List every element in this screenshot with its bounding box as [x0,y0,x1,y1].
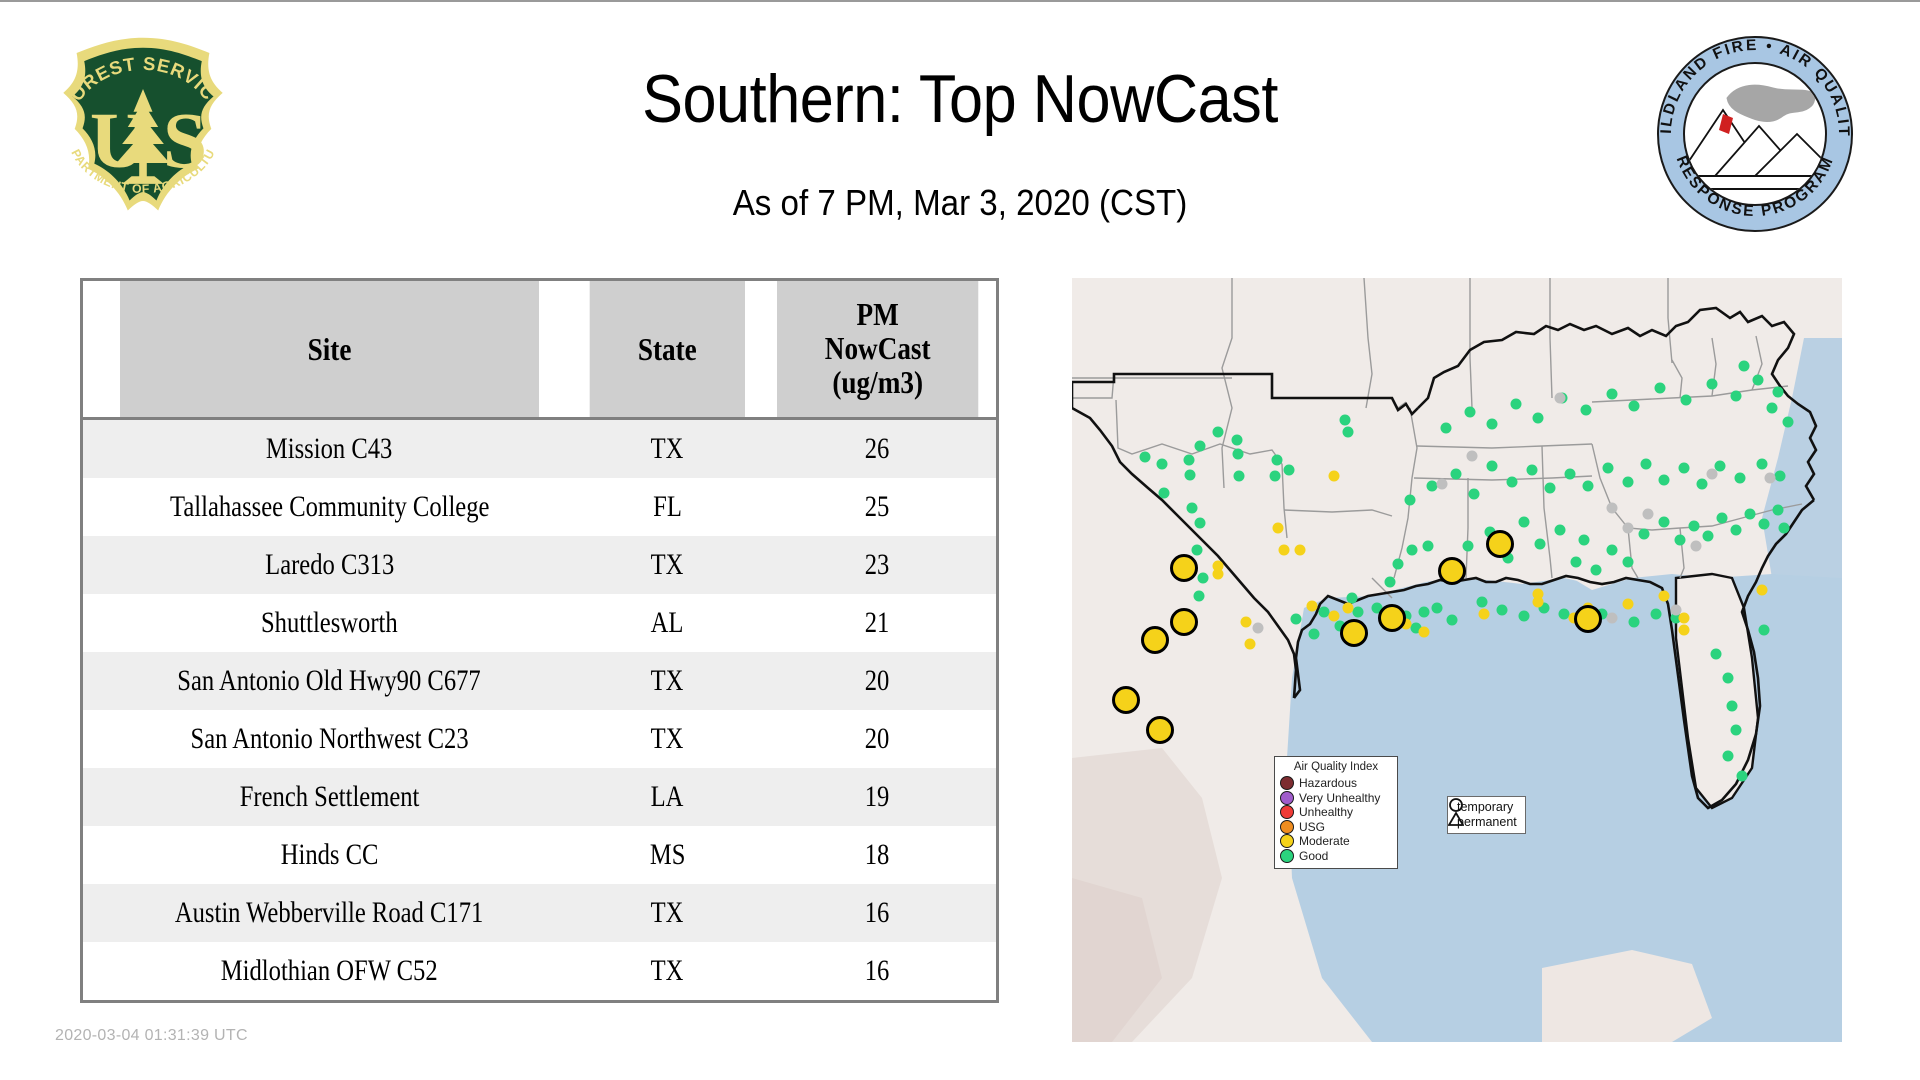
legend-permanent-label: permanent [1457,815,1517,830]
top-site-marker [1143,628,1168,653]
top-site-marker [1172,610,1197,635]
table-body: Mission C43TX26Tallahassee Community Col… [83,419,996,1001]
aqi-swatch-icon [1280,849,1294,863]
aqi-legend-label: Moderate [1299,835,1350,847]
aqi-swatch-icon [1280,791,1294,805]
cell-pm: 25 [759,478,996,536]
cell-site: Shuttlesworth [83,594,576,652]
cell-state: FL [576,478,759,536]
cell-pm: 20 [759,710,996,768]
air-quality-monitor-map[interactable]: Air Quality Index HazardousVery Unhealth… [1072,278,1842,1042]
cell-pm: 16 [759,884,996,942]
cell-pm: 18 [759,826,996,884]
table-row[interactable]: French SettlementLA19 [83,768,996,826]
aqi-legend-item: Moderate [1280,834,1392,849]
table-row[interactable]: Laredo C313TX23 [83,536,996,594]
column-header-pm-line2: NowCast [776,332,978,366]
table-row[interactable]: Austin Webberville Road C171TX16 [83,884,996,942]
aqi-legend: Air Quality Index HazardousVery Unhealth… [1274,756,1398,869]
cell-state: TX [576,884,759,942]
map-graphic [1072,278,1842,1042]
cell-pm: 26 [759,419,996,479]
table-row[interactable]: Hinds CCMS18 [83,826,996,884]
cell-state: TX [576,419,759,479]
cell-state: TX [576,942,759,1000]
top-site-marker [1148,718,1173,743]
aqi-legend-label: Hazardous [1299,777,1357,789]
column-header-pm-line1: PM [776,298,978,332]
aqi-legend-label: USG [1299,821,1325,833]
aqi-legend-title: Air Quality Index [1280,761,1392,773]
page-header: FOREST SERVICE U S DEPARTMENT OF AGRICUL… [0,2,1920,272]
cell-site: Laredo C313 [83,536,576,594]
cell-pm: 23 [759,536,996,594]
aqi-legend-item: Unhealthy [1280,805,1392,820]
cell-pm: 20 [759,652,996,710]
top-site-marker [1440,559,1465,584]
table-row[interactable]: Mission C43TX26 [83,419,996,479]
aqi-legend-item: Good [1280,849,1392,864]
aqi-swatch-icon [1280,834,1294,848]
cell-pm: 21 [759,594,996,652]
column-header-pm-line3: (ug/m3) [776,366,978,400]
table-header-row: Site State PM NowCast (ug/m3) [83,281,996,419]
cell-state: TX [576,710,759,768]
legend-temporary-label: temporary [1457,800,1517,815]
cell-site: Midlothian OFW C52 [83,942,576,1000]
top-site-marker [1488,532,1513,557]
generated-timestamp: 2020-03-04 01:31:39 UTC [55,1027,248,1045]
top-site-marker [1576,607,1601,632]
top-site-marker [1380,606,1405,631]
cell-state: TX [576,536,759,594]
site-type-labels: temporary permanent [1457,800,1517,829]
table-row[interactable]: Tallahassee Community CollegeFL25 [83,478,996,536]
aqi-legend-label: Very Unhealthy [1299,792,1380,804]
page-title: Southern: Top NowCast [96,60,1824,138]
top-nowcast-table: Site State PM NowCast (ug/m3) Mission C4… [80,278,999,1003]
aqi-legend-label: Good [1299,850,1328,862]
cell-site: Austin Webberville Road C171 [83,884,576,942]
temporary-circle-icon [1450,799,1462,811]
column-header-state: State [590,281,745,419]
cell-site: San Antonio Old Hwy90 C677 [83,652,576,710]
top-site-marker [1114,688,1139,713]
cell-pm: 16 [759,942,996,1000]
top-site-marker [1172,556,1197,581]
permanent-triangle-icon [1449,813,1463,825]
table-row[interactable]: Midlothian OFW C52TX16 [83,942,996,1000]
aqi-legend-label: Unhealthy [1299,806,1353,818]
table-row[interactable]: San Antonio Northwest C23TX20 [83,710,996,768]
cell-site: Mission C43 [83,419,576,479]
cell-state: AL [576,594,759,652]
cell-pm: 19 [759,768,996,826]
cell-site: Tallahassee Community College [83,478,576,536]
aqi-legend-item: Hazardous [1280,776,1392,791]
page-subtitle: As of 7 PM, Mar 3, 2020 (CST) [77,182,1843,224]
cell-state: TX [576,652,759,710]
cell-site: French Settlement [83,768,576,826]
aqi-legend-item: Very Unhealthy [1280,791,1392,806]
aqi-legend-item: USG [1280,820,1392,835]
table-row[interactable]: San Antonio Old Hwy90 C677TX20 [83,652,996,710]
column-header-site: Site [120,281,539,419]
cell-state: LA [576,768,759,826]
cell-state: MS [576,826,759,884]
column-header-pm-nowcast: PM NowCast (ug/m3) [776,281,978,419]
aqi-swatch-icon [1280,820,1294,834]
top-site-marker [1342,621,1367,646]
aqi-swatch-icon [1280,776,1294,790]
site-type-legend: temporary permanent [1447,796,1526,834]
cell-site: Hinds CC [83,826,576,884]
table-row[interactable]: ShuttlesworthAL21 [83,594,996,652]
aqi-swatch-icon [1280,805,1294,819]
aqi-legend-rows: HazardousVery UnhealthyUnhealthyUSGModer… [1280,776,1392,863]
cell-site: San Antonio Northwest C23 [83,710,576,768]
